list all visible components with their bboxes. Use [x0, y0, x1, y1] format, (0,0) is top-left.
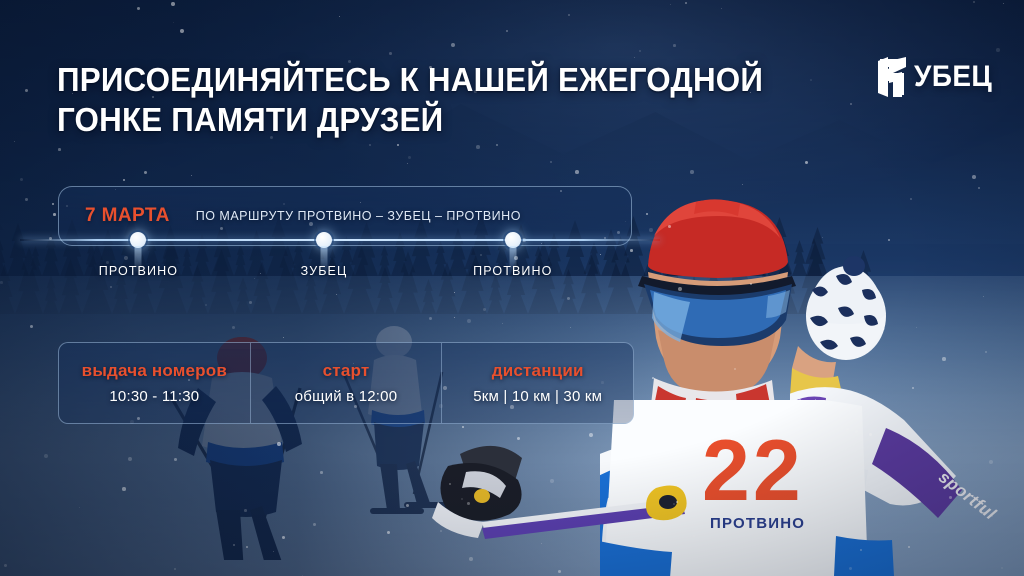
race-details-table: выдача номеров 10:30 - 11:30 старт общий…	[58, 342, 634, 424]
route-stop-1: ЗУБЕЦ	[316, 232, 332, 248]
table-col-registration: выдача номеров 10:30 - 11:30	[59, 343, 250, 423]
svg-text:ПРОТВИНО: ПРОТВИНО	[710, 515, 805, 532]
route-timeline: ПРОТВИНОЗУБЕЦПРОТВИНО	[20, 232, 660, 248]
col-value: общий в 12:00	[295, 388, 397, 405]
route-stop-label: ЗУБЕЦ	[301, 264, 348, 278]
table-col-start: старт общий в 12:00	[250, 343, 442, 423]
col-header: выдача номеров	[82, 361, 227, 381]
table-col-distances: дистанции 5км | 10 км | 30 км	[441, 343, 633, 423]
col-header: дистанции	[492, 361, 584, 381]
col-header: старт	[323, 361, 370, 381]
route-subtitle: ПО МАРШРУТУ ПРОТВИНО – ЗУБЕЦ – ПРОТВИНО	[196, 209, 521, 223]
headline-line-1: ПРИСОЕДИНЯЙТЕСЬ К НАШЕЙ ЕЖЕГОДНОЙ	[57, 60, 760, 100]
route-stop-2: ПРОТВИНО	[505, 232, 521, 248]
route-stop-label: ПРОТВИНО	[99, 264, 178, 278]
glove-and-ski-pole	[420, 440, 720, 576]
headline-line-2: ГОНКЕ ПАМЯТИ ДРУЗЕЙ	[57, 100, 760, 140]
brand-logo-text: УБЕЦ	[914, 60, 992, 94]
page-title: ПРИСОЕДИНЯЙТЕСЬ К НАШЕЙ ЕЖЕГОДНОЙ ГОНКЕ …	[57, 60, 760, 139]
route-stop-label: ПРОТВИНО	[473, 264, 552, 278]
brand-logo[interactable]: УБЕЦ	[876, 55, 998, 99]
route-timeline-line	[20, 239, 660, 241]
red-beanie-icon	[648, 199, 788, 278]
route-stop-0: ПРОТВИНО	[130, 232, 146, 248]
col-value: 5км | 10 км | 30 км	[473, 388, 602, 405]
stylized-z-icon	[876, 55, 910, 99]
race-announcement-poster: sportful 3 ПРОТВИ	[0, 0, 1024, 576]
col-value: 10:30 - 11:30	[109, 388, 199, 405]
race-date: 7 МАРТА	[85, 205, 170, 227]
